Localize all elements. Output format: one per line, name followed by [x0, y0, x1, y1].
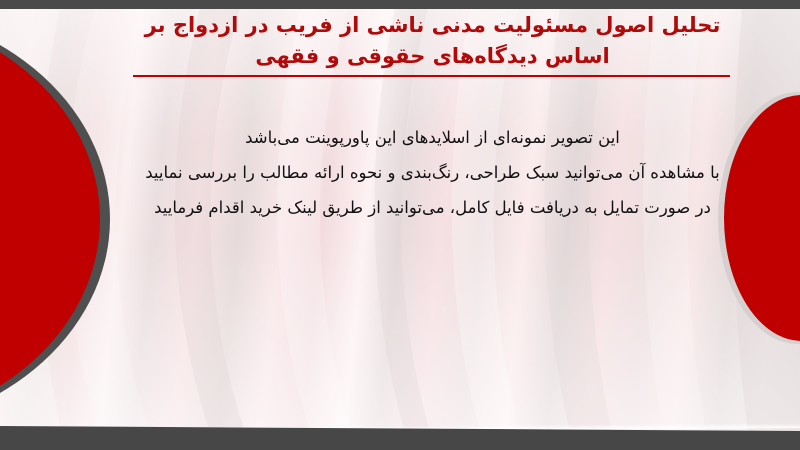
title-line-1: تحلیل اصول مسئولیت مدنی ناشی از فریب در …: [130, 10, 735, 41]
presentation-slide: تحلیل اصول مسئولیت مدنی ناشی از فریب در …: [0, 0, 800, 450]
slide-content: تحلیل اصول مسئولیت مدنی ناشی از فریب در …: [0, 0, 800, 450]
body-line-1: این تصویر نمونه‌ای از اسلایدهای این پاور…: [120, 120, 745, 155]
slide-body-text: این تصویر نمونه‌ای از اسلایدهای این پاور…: [120, 120, 745, 225]
slide-title: تحلیل اصول مسئولیت مدنی ناشی از فریب در …: [130, 10, 735, 72]
title-underline-rule: [133, 75, 730, 77]
title-line-2: اساس دیدگاه‌های حقوقی و فقهی: [130, 41, 735, 72]
body-line-2: با مشاهده آن می‌توانید سبک طراحی، رنگ‌بن…: [120, 155, 745, 190]
body-line-3: در صورت تمایل به دریافت فایل کامل، می‌تو…: [120, 190, 745, 225]
